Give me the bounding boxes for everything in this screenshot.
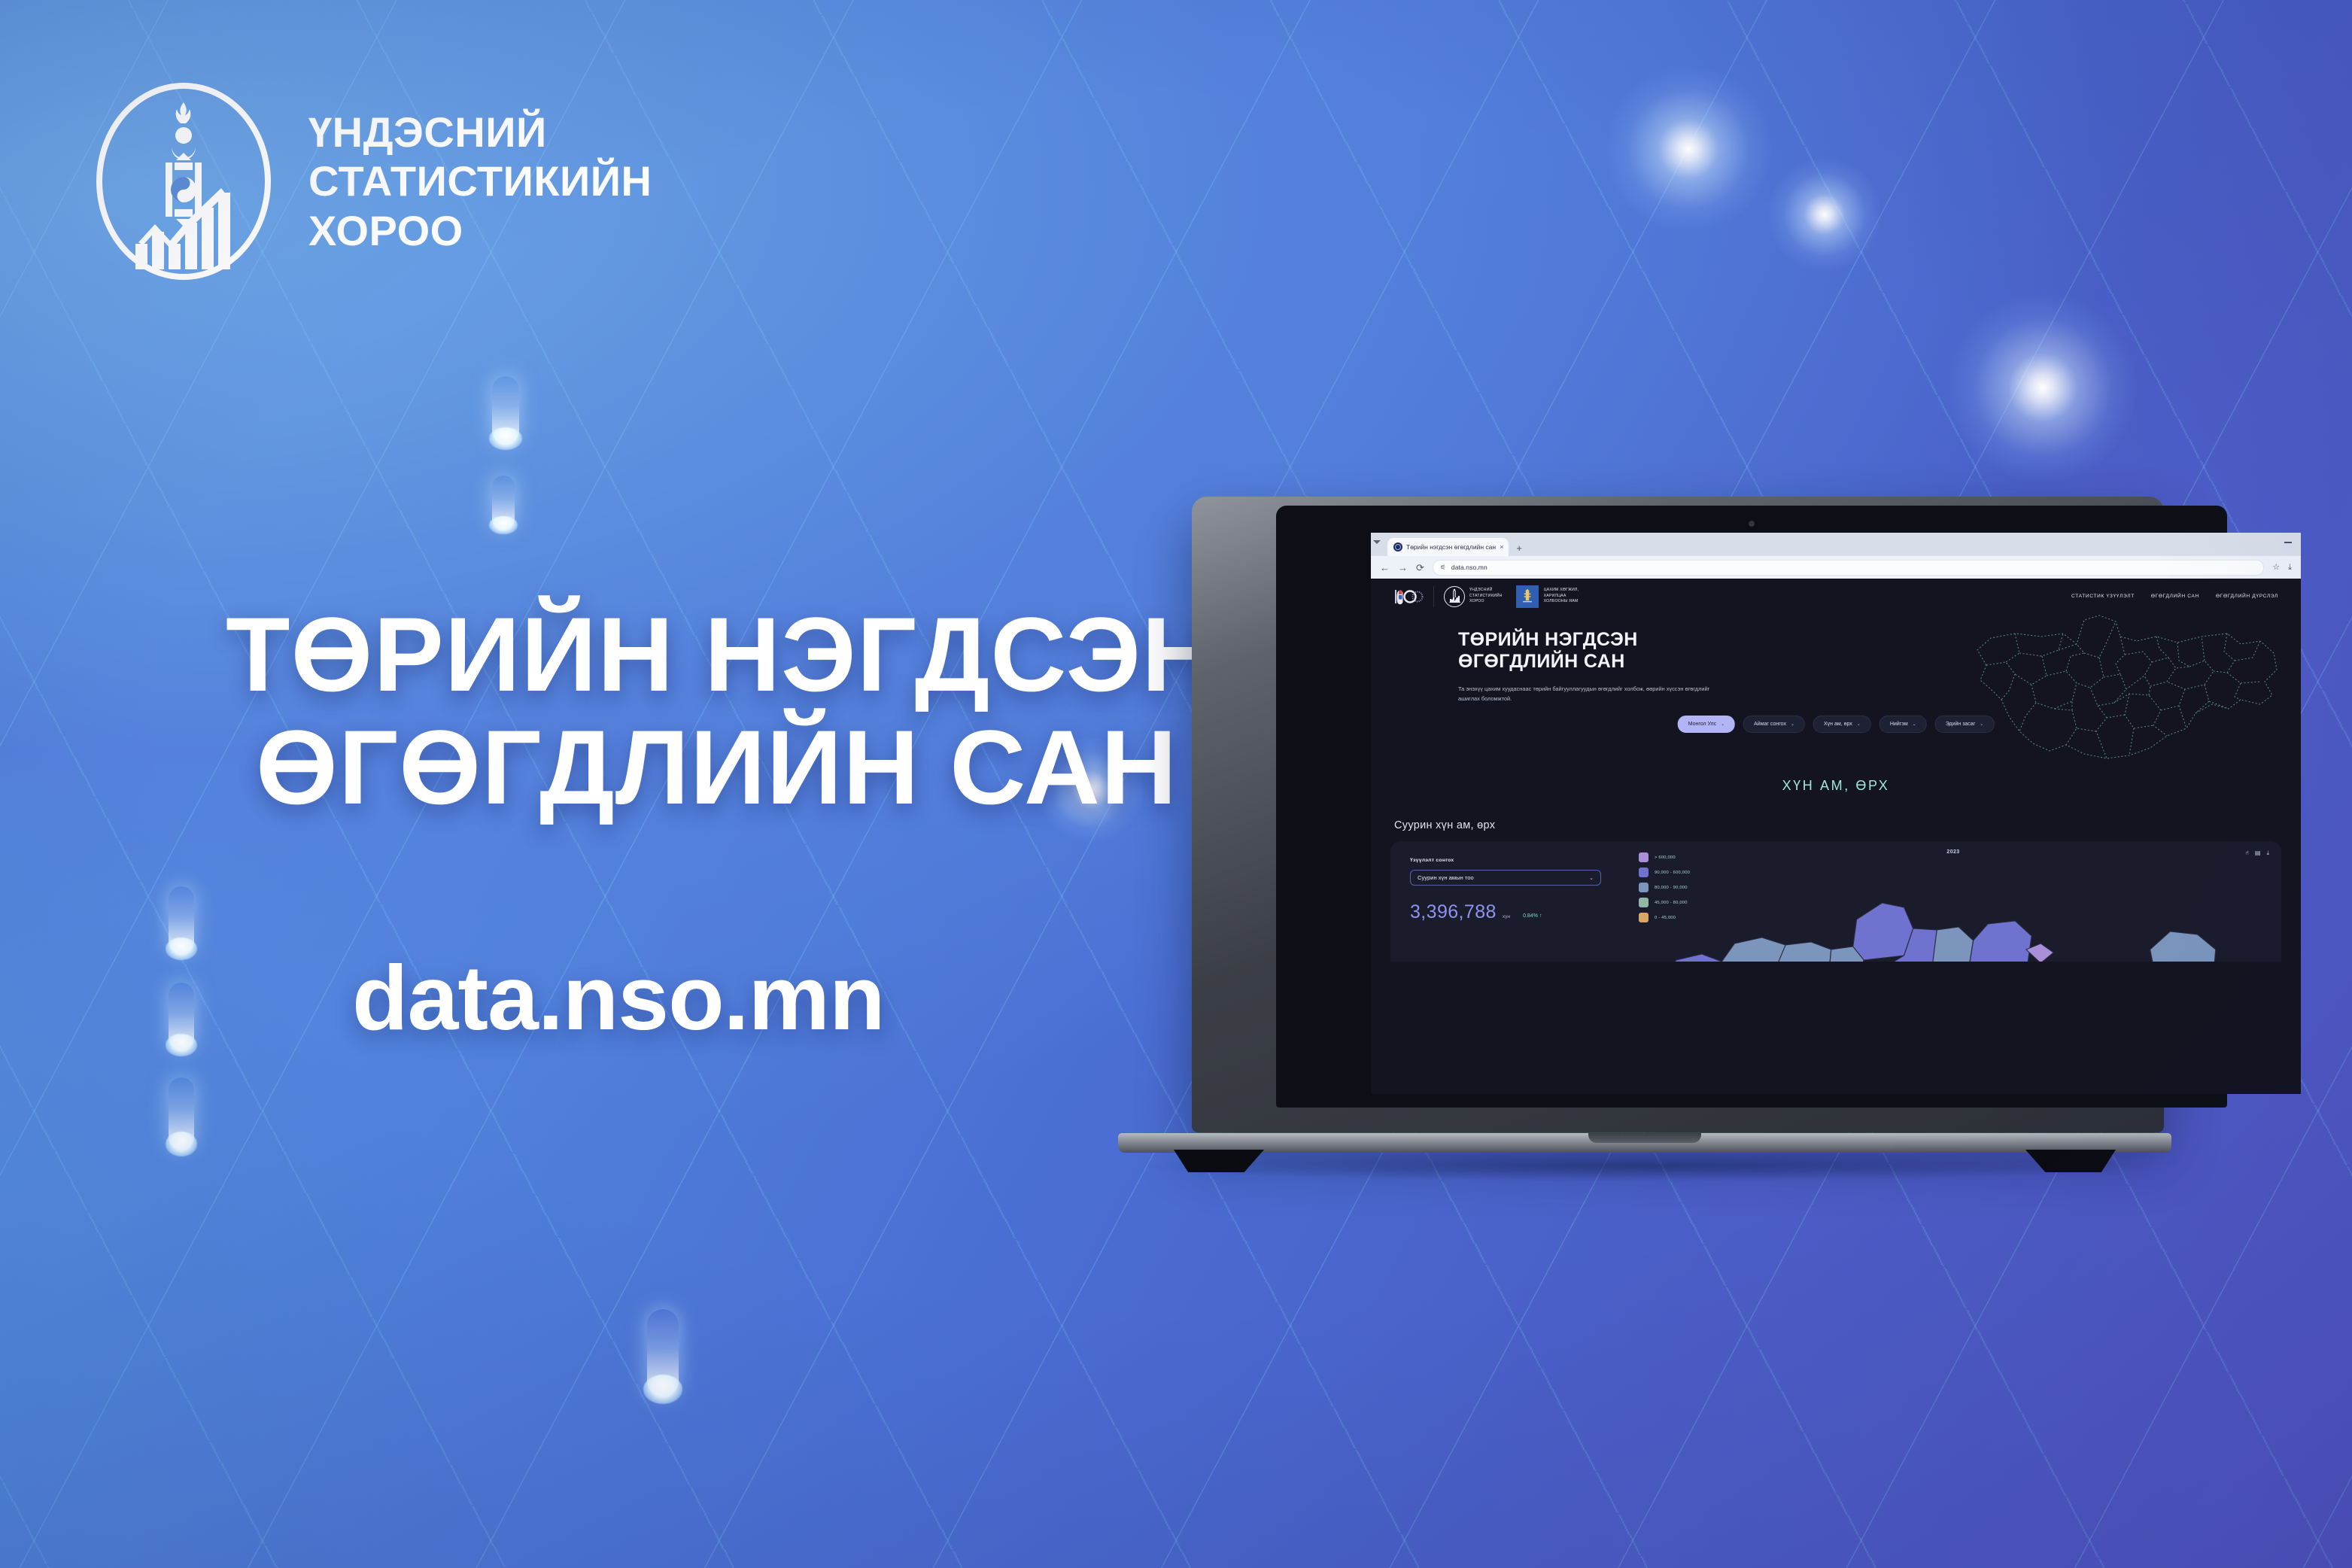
- chevron-down-icon: ⌄: [1791, 722, 1794, 727]
- legend-item: 45,000 - 80,000: [1639, 898, 1690, 907]
- poster-canvas: ҮНДЭСНИЙ СТАТИСТИКИЙН ХОРОО ТӨРИЙН НЭГДС…: [0, 0, 2352, 1568]
- legend-label: 90,000 - 600,000: [1655, 871, 1690, 875]
- legend-swatch: [1639, 898, 1649, 907]
- legend-swatch: [1639, 852, 1649, 862]
- map-legend: > 600,000 90,000 - 600,000 80,000 - 90,0…: [1639, 852, 1690, 922]
- legend-label: 80,000 - 90,000: [1655, 886, 1688, 890]
- chevron-down-icon: ⌄: [1913, 722, 1916, 727]
- filter-pill-society[interactable]: Нийгэм ⌄: [1879, 716, 1927, 733]
- chevron-down-icon: ⌄: [1721, 722, 1724, 727]
- legend-label: 0 - 45,000: [1655, 916, 1676, 920]
- legend-item: 90,000 - 600,000: [1639, 868, 1690, 877]
- filter-pill-country-label: Монгол Улс: [1688, 722, 1716, 727]
- legend-swatch: [1639, 913, 1649, 922]
- map-year-label: 2023: [1946, 849, 1959, 855]
- chevron-down-icon: ⌄: [1857, 722, 1861, 727]
- download-icon[interactable]: ⤓: [2266, 849, 2269, 857]
- table-view-icon[interactable]: ▤: [2255, 849, 2261, 857]
- filter-pill-province-label: Аймаг сонгох: [1754, 722, 1786, 727]
- filter-pill-economy-label: Эдийн засаг: [1946, 722, 1976, 727]
- filter-pill-population[interactable]: Хүн ам, өрх ⌄: [1813, 716, 1871, 733]
- legend-item: 0 - 45,000: [1639, 913, 1690, 922]
- filter-pill-country[interactable]: Монгол Улс ⌄: [1678, 716, 1735, 733]
- chart-view-icon[interactable]: ⑁: [2245, 849, 2249, 857]
- legend-label: > 600,000: [1655, 855, 1676, 860]
- filter-pill-economy[interactable]: Эдийн засаг ⌄: [1935, 716, 1995, 733]
- legend-item: > 600,000: [1639, 852, 1690, 862]
- map-toolbar: ⑁ ▤ ⤓: [2245, 849, 2269, 857]
- filter-bar: Монгол Улс ⌄ Аймаг сонгох ⌄ Хүн ам, өрх …: [1678, 716, 1995, 733]
- legend-label: 45,000 - 80,000: [1655, 901, 1688, 905]
- legend-item: 80,000 - 90,000: [1639, 883, 1690, 892]
- legend-swatch: [1639, 868, 1649, 877]
- filter-pill-population-label: Хүн ам, өрх: [1824, 722, 1852, 727]
- legend-swatch: [1639, 883, 1649, 892]
- vignette-overlay: [0, 0, 2352, 1568]
- filter-pill-society-label: Нийгэм: [1890, 722, 1908, 727]
- filter-pill-province[interactable]: Аймаг сонгох ⌄: [1743, 716, 1805, 733]
- chevron-down-icon: ⌄: [1980, 722, 1983, 727]
